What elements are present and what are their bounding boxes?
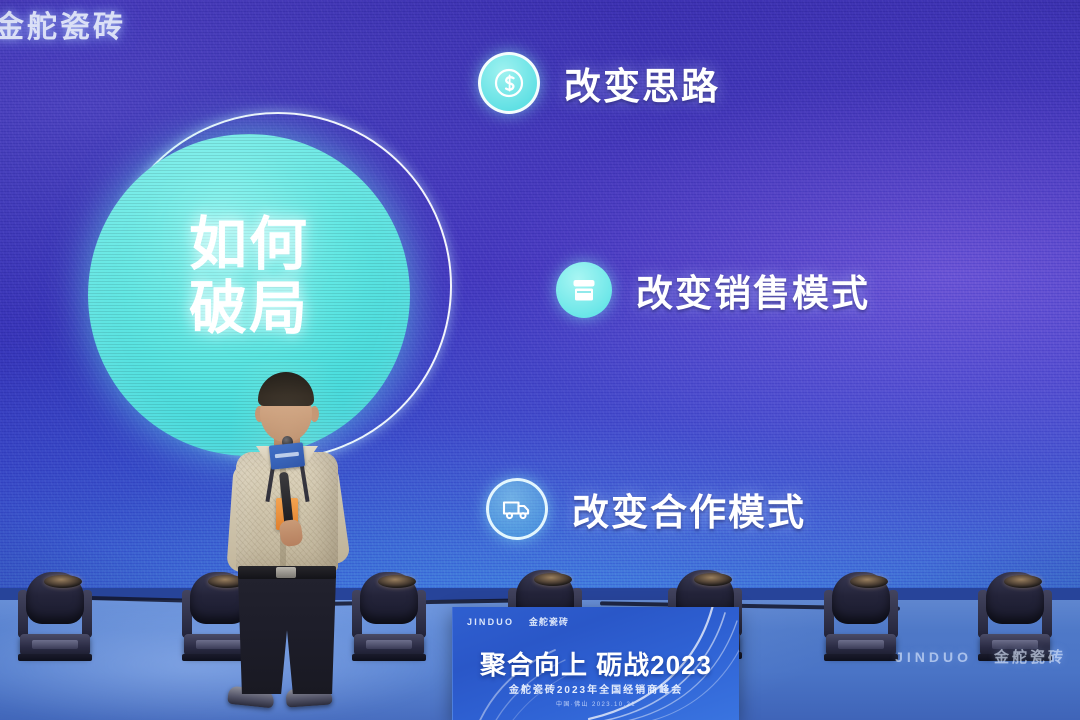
podium-sign: JINDUO 金舵瓷砖 聚合向上 砺战2023 金舵瓷砖2023年全国经销商峰会…: [452, 607, 739, 720]
bullet-item-change-mindset: 改变思路: [478, 52, 720, 114]
bullet-label-change-mindset: 改变思路: [564, 56, 720, 110]
podium-logo-cn: 金舵瓷砖: [529, 617, 569, 627]
delivery-truck-icon: [486, 478, 548, 540]
idea-swirl-icon: [478, 52, 540, 114]
floor-brand-latin: JINDUO: [895, 649, 972, 665]
moving-head-light: [18, 572, 92, 664]
speaker-hand: [278, 519, 303, 548]
floor-brand-cn: 金舵瓷砖: [994, 646, 1066, 667]
speaker-person: [222, 372, 352, 720]
podium-subtitle: 金舵瓷砖2023年全国经销商峰会: [453, 681, 739, 696]
storefront-icon: [556, 262, 612, 318]
floor-brand-mark: JINDUO 金舵瓷砖: [895, 646, 1066, 667]
speaker-hair: [258, 372, 314, 406]
bullet-label-change-cooperation-model: 改变合作模式: [572, 482, 806, 536]
podium-logo-latin: JINDUO: [467, 617, 514, 627]
speaker-belt-buckle: [276, 567, 296, 578]
bullet-label-change-sales-model: 改变销售模式: [636, 263, 870, 317]
bullet-item-change-sales-model: 改变销售模式: [556, 262, 870, 318]
led-screen-backdrop: 金舵瓷砖 如何 破局 改变思路: [0, 0, 1080, 600]
microphone-flag: [269, 442, 305, 469]
screen-brand-watermark: 金舵瓷砖: [0, 2, 126, 46]
podium-title: 聚合向上 砺战2023: [453, 645, 739, 682]
podium-date-line: 中国·佛山 2023.10.21: [453, 699, 739, 708]
moving-head-light: [352, 572, 426, 664]
stage-photo: 金舵瓷砖 如何 破局 改变思路: [0, 0, 1080, 720]
bullet-item-change-cooperation-model: 改变合作模式: [486, 478, 806, 540]
speaker-trousers: [238, 576, 336, 694]
podium-logo: JINDUO 金舵瓷砖: [467, 615, 569, 628]
hero-circle-line-2: 破局: [189, 279, 309, 339]
moving-head-light: [824, 572, 898, 664]
hero-circle-line-1: 如何: [189, 215, 309, 275]
